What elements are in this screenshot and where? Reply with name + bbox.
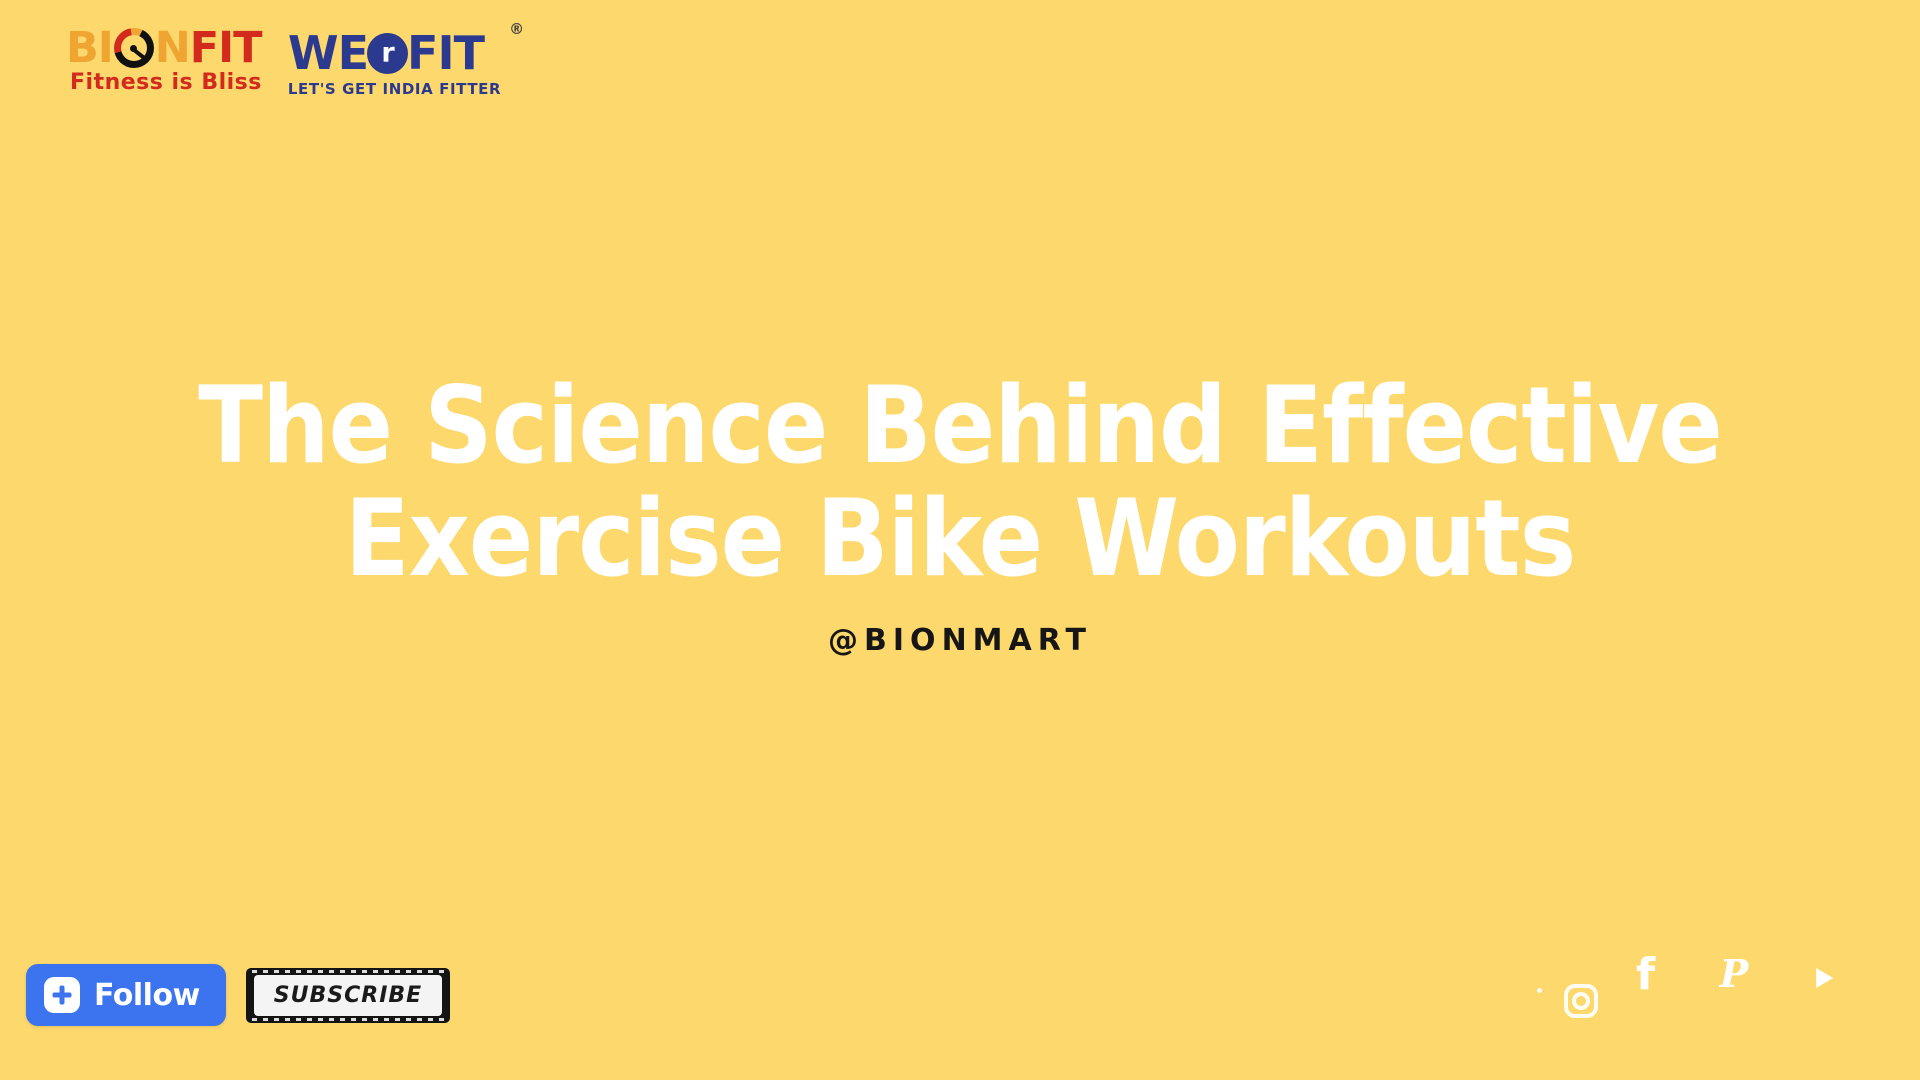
youtube-icon[interactable] bbox=[1824, 978, 1886, 1024]
bionfit-text-part1: BI bbox=[66, 28, 113, 69]
weofit-wordmark: WE r FIT ® bbox=[288, 30, 484, 76]
subscribe-button-inner: SUBSCRIBE bbox=[254, 975, 442, 1016]
slide-canvas: { "theme": { "background": "#FDD86C", "h… bbox=[0, 0, 1920, 1080]
weofit-text-part2: FIT bbox=[407, 30, 484, 76]
main-content: The Science Behind Effective Exercise Bi… bbox=[0, 370, 1920, 658]
subscribe-button[interactable]: SUBSCRIBE bbox=[246, 968, 450, 1023]
bionfit-tagline: Fitness is Bliss bbox=[70, 72, 262, 94]
pinterest-icon[interactable]: P bbox=[1734, 974, 1788, 1028]
plus-icon bbox=[44, 977, 80, 1013]
weofit-circle-icon: r bbox=[367, 33, 408, 74]
bionfit-text-part2: N bbox=[155, 28, 190, 69]
page-title: The Science Behind Effective Exercise Bi… bbox=[60, 370, 1860, 596]
speedometer-icon bbox=[114, 28, 154, 68]
weofit-logo: WE r FIT ® LET'S GET INDIA FITTER bbox=[288, 30, 501, 98]
brand-logo-bar: BI N FIT Fitness is Bliss WE r FIT ® LET… bbox=[66, 28, 501, 98]
weofit-tagline: LET'S GET INDIA FITTER bbox=[288, 80, 501, 98]
pinterest-glyph: P bbox=[1720, 955, 1749, 993]
instagram-icon[interactable] bbox=[1554, 974, 1608, 1028]
facebook-glyph: f bbox=[1636, 953, 1655, 997]
follow-button-label: Follow bbox=[94, 978, 200, 1013]
social-links: f P bbox=[1554, 974, 1886, 1028]
follow-button[interactable]: Follow bbox=[26, 964, 226, 1026]
facebook-icon[interactable]: f bbox=[1644, 974, 1698, 1028]
bionfit-text-part3: FIT bbox=[190, 28, 262, 69]
subscribe-button-label: SUBSCRIBE bbox=[274, 983, 422, 1008]
youtube-play-triangle bbox=[1816, 968, 1833, 988]
bionfit-logo: BI N FIT Fitness is Bliss bbox=[66, 28, 262, 94]
social-handle: @BIONMART bbox=[60, 623, 1860, 658]
weofit-text-part1: WE bbox=[288, 30, 368, 76]
bionfit-wordmark: BI N FIT bbox=[66, 28, 262, 69]
cta-row: Follow SUBSCRIBE bbox=[26, 964, 450, 1026]
weofit-circle-letter: r bbox=[381, 40, 393, 67]
registered-trademark-icon: ® bbox=[509, 22, 523, 37]
